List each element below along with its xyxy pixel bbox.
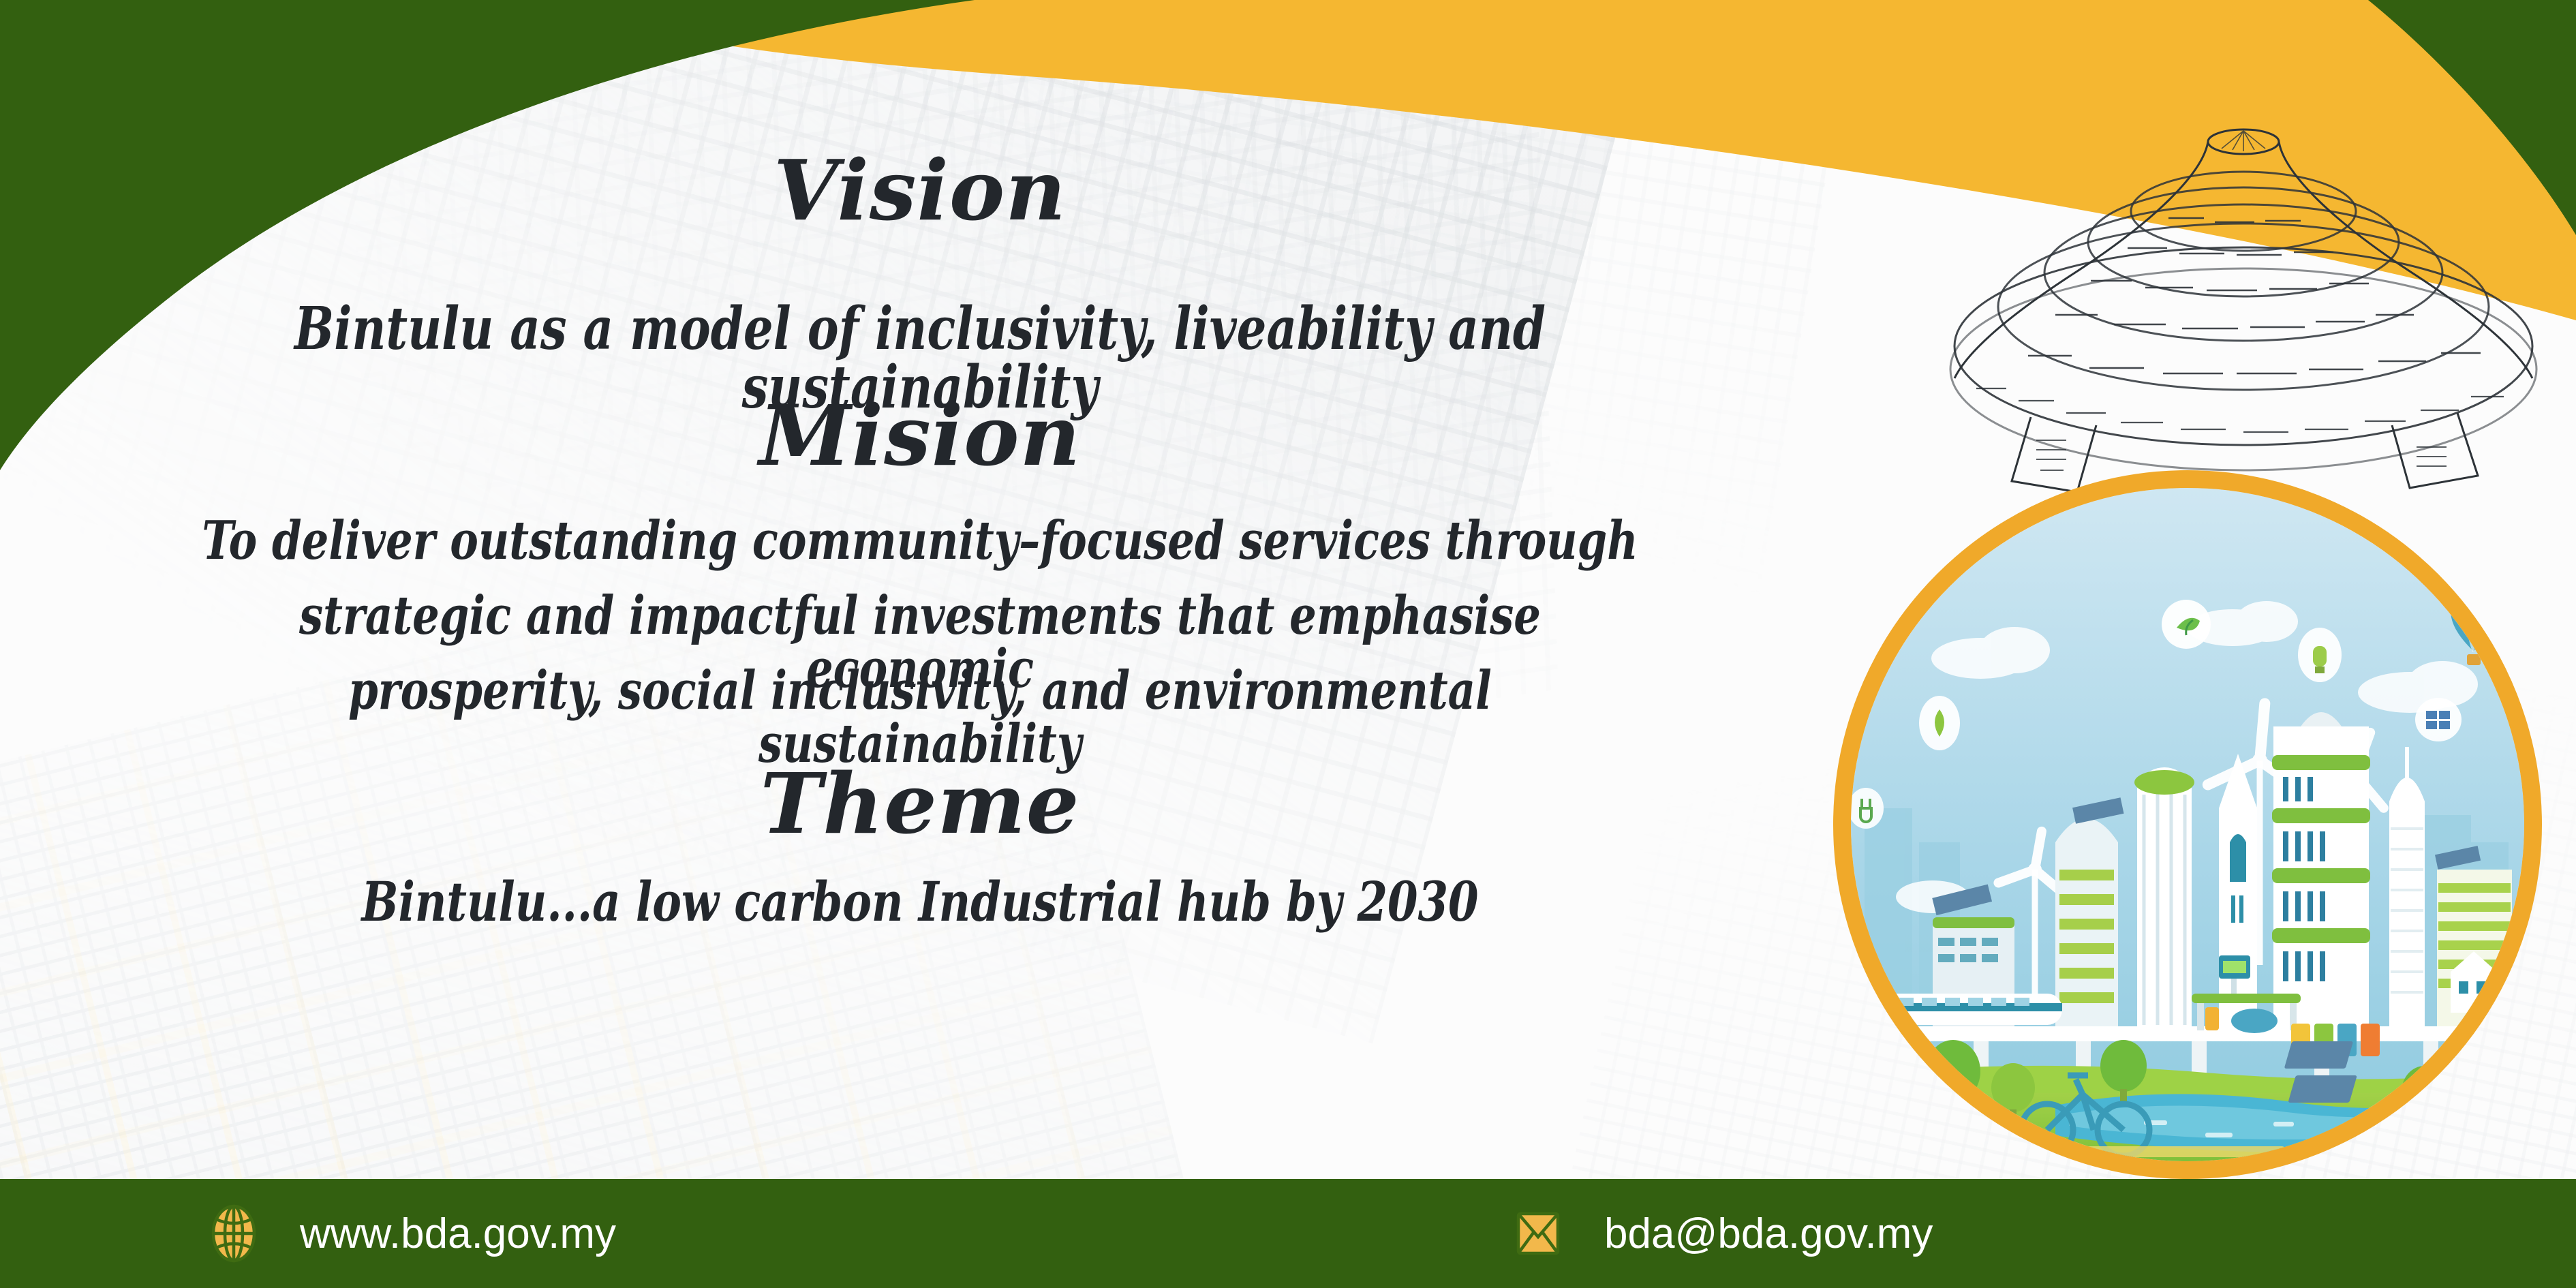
- footer-email[interactable]: bda@bda.gov.my: [1509, 1204, 1933, 1263]
- eco-city-circle: [1833, 470, 2542, 1179]
- pavilion-line-art: [1929, 102, 2556, 497]
- eco-city-circle-ring: [1833, 470, 2542, 1179]
- footer-bar: www.bda.gov.my bda@bda.gov.my: [0, 1179, 2576, 1288]
- theme-text: Bintulu...a low carbon Industrial hub by…: [184, 874, 1656, 929]
- vision-mission-theme-banner: Vision Bintulu as a model of inclusivity…: [0, 0, 2576, 1288]
- globe-icon: [204, 1204, 263, 1263]
- footer-email-label: bda@bda.gov.my: [1604, 1210, 1933, 1258]
- vision-heading: Vision: [0, 149, 1840, 232]
- footer-website-label: www.bda.gov.my: [300, 1210, 616, 1258]
- envelope-icon: [1509, 1204, 1567, 1263]
- content-text-block: Vision Bintulu as a model of inclusivity…: [0, 0, 1840, 1022]
- mission-text-line-1: To deliver outstanding community–focused…: [184, 515, 1656, 568]
- mission-heading: Mision: [0, 394, 1840, 477]
- theme-heading: Theme: [0, 762, 1840, 845]
- footer-website[interactable]: www.bda.gov.my: [204, 1204, 616, 1263]
